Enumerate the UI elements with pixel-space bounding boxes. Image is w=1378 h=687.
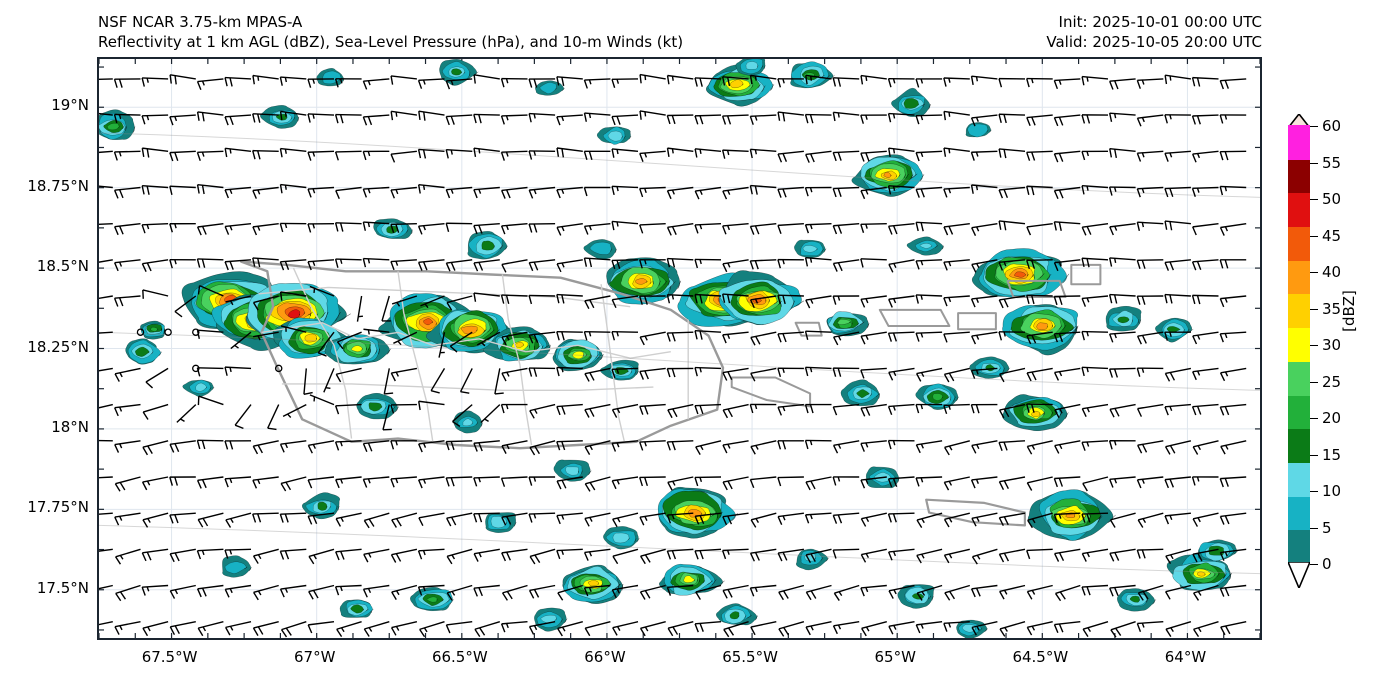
wind-barb-icon	[613, 622, 640, 636]
wind-barb-icon	[99, 332, 113, 342]
reflectivity-cell	[140, 321, 165, 339]
longitude-tick-label: 65.5°W	[722, 648, 778, 666]
wind-barb-icon	[723, 224, 750, 235]
wind-barb-icon	[723, 586, 750, 599]
wind-barb-icon	[1192, 295, 1218, 304]
wind-barb-icon	[115, 405, 142, 417]
wind-barb-icon	[1220, 224, 1247, 236]
colorbar-segment	[1288, 260, 1310, 294]
wind-barb-icon	[999, 79, 1025, 88]
colorbar-segment	[1288, 193, 1310, 227]
wind-barb-icon	[474, 586, 501, 597]
wind-barb-icon	[418, 111, 445, 123]
wind-barb-icon	[861, 405, 888, 417]
wind-barb-icon	[585, 513, 612, 527]
wind-barb-icon	[888, 441, 914, 450]
init-time-label: Init: 2025-10-01 00:00 UTC	[1046, 12, 1262, 32]
wind-barb-icon	[225, 188, 252, 199]
wind-barb-icon	[335, 223, 361, 232]
colorbar-segment	[1288, 227, 1310, 261]
latitude-tick-label: 18.25°N	[27, 338, 89, 356]
wind-barb-icon	[861, 332, 888, 344]
colorbar-segment	[1288, 496, 1310, 530]
wind-barb-icon	[281, 477, 308, 492]
latitude-tick-label: 17.75°N	[27, 498, 89, 516]
wind-barb-icon	[461, 368, 480, 395]
field-title: Reflectivity at 1 km AGL (dBZ), Sea-Leve…	[98, 32, 683, 52]
wind-barb-icon	[916, 151, 942, 161]
wind-barb-icon	[473, 75, 500, 88]
wind-barb-icon	[418, 185, 445, 196]
wind-barb-icon	[198, 586, 225, 598]
wind-barb-icon	[226, 622, 253, 636]
wind-barb-icon	[501, 405, 527, 414]
admin-boundary-path	[282, 384, 654, 390]
wind-barb-icon	[170, 477, 196, 486]
wind-barb-icon	[253, 513, 279, 522]
wind-barb-icon	[640, 477, 666, 486]
wind-barb-icon	[805, 258, 832, 269]
colorbar-segment	[1288, 159, 1310, 193]
reflectivity-cell-weak	[794, 240, 826, 258]
wind-barb-icon	[392, 513, 419, 528]
wind-barb-icon	[1000, 622, 1027, 637]
reflectivity-cell-weak	[183, 380, 214, 397]
wind-barb-icon	[1109, 113, 1136, 123]
wind-barb-icon	[197, 549, 223, 559]
wind-barb-icon	[640, 224, 666, 234]
wind-barb-icon	[99, 513, 113, 523]
colorbar-tick	[1310, 272, 1318, 273]
latitude-tick-label: 19°N	[51, 96, 89, 114]
reflectivity-cell-weak	[1106, 306, 1141, 331]
wind-barb-icon	[944, 260, 971, 271]
wind-barb-icon	[640, 368, 667, 379]
wind-barb-icon	[751, 622, 778, 636]
wind-barb-icon	[723, 441, 750, 454]
wind-barb-icon	[1137, 222, 1163, 232]
wind-barb-icon	[363, 477, 390, 488]
wind-barb-icon	[695, 477, 721, 486]
wind-barb-icon	[364, 586, 391, 598]
wind-barb-icon	[1110, 368, 1136, 377]
colorbar-tick	[1310, 309, 1318, 310]
colorbar[interactable]: 051015202530354045505560	[1288, 126, 1310, 564]
wind-barb-icon	[944, 296, 971, 306]
wind-barb-icon	[1221, 368, 1248, 381]
wind-barb-icon	[833, 260, 860, 272]
wind-barb-icon	[1083, 622, 1110, 638]
wind-barb-icon	[225, 441, 251, 450]
wind-barb-icon	[1054, 115, 1081, 126]
wind-barb-icon	[431, 368, 452, 395]
wind-barb-icon	[279, 185, 306, 196]
wind-barb-icon	[252, 76, 279, 88]
wind-barb-icon	[99, 224, 113, 234]
wind-barb-icon	[640, 151, 667, 162]
wind-barb-icon	[336, 586, 362, 596]
wind-barb-icon	[142, 260, 169, 272]
wind-barb-icon	[253, 477, 280, 489]
wind-barb-icon	[170, 513, 197, 523]
reflectivity-cell	[658, 487, 738, 538]
wind-barb-icon	[363, 259, 389, 269]
colorbar-tick	[1310, 199, 1318, 200]
wind-barb-icon	[750, 224, 777, 235]
wind-barb-icon	[723, 188, 750, 200]
wind-barb-icon	[916, 295, 942, 305]
wind-barb-icon	[861, 441, 888, 452]
wind-barb-icon	[557, 260, 584, 272]
reflectivity-cell	[972, 248, 1069, 298]
wind-barb-icon	[225, 367, 251, 377]
wind-barb-icon	[282, 622, 309, 638]
map-plot-area[interactable]	[97, 57, 1262, 640]
wind-barb-icon	[889, 405, 916, 415]
reflectivity-cell-weak	[126, 339, 162, 365]
figure-canvas: NSF NCAR 3.75-km MPAS-A Reflectivity at …	[0, 0, 1378, 687]
wind-barb-icon	[280, 149, 307, 160]
wind-barb-icon	[971, 185, 998, 196]
wind-barb-icon	[391, 549, 418, 563]
wind-barb-icon	[115, 513, 142, 525]
wind-barb-icon	[944, 549, 971, 563]
wind-barb-icon	[363, 79, 390, 90]
wind-barb-icon	[529, 477, 555, 486]
latitude-tick-label: 18.5°N	[37, 257, 89, 275]
wind-barb-icon	[778, 260, 804, 269]
wind-barb-icon	[1082, 224, 1109, 236]
wind-barb-icon	[474, 260, 501, 272]
wind-barb-icon	[142, 586, 168, 596]
wind-barb-icon	[779, 622, 806, 637]
wind-barb-icon	[999, 441, 1025, 451]
wind-barb-icon	[1054, 151, 1081, 162]
wind-barb-icon	[141, 290, 168, 304]
colorbar-segment	[1288, 395, 1310, 429]
wind-barb-icon	[364, 622, 391, 637]
wind-barb-icon	[419, 477, 446, 488]
wind-barb-icon	[529, 188, 556, 199]
wind-barb-icon	[805, 115, 831, 124]
wind-barb-icon	[143, 441, 170, 456]
wind-barb-icon	[1109, 258, 1136, 268]
wind-barb-icon	[196, 396, 223, 412]
wind-barb-icon	[778, 441, 804, 450]
wind-barb-icon	[142, 78, 168, 87]
wind-barb-icon	[667, 441, 693, 451]
wind-barb-icon	[1137, 622, 1164, 632]
wind-barb-icon	[363, 151, 389, 160]
wind-barb-icon	[1220, 405, 1247, 416]
wind-barb-icon	[833, 151, 859, 161]
wind-barb-icon	[723, 477, 750, 490]
wind-barb-icon	[473, 148, 500, 160]
reflectivity-cell	[827, 311, 869, 336]
wind-barb-icon	[833, 224, 860, 235]
reflectivity-cell-weak	[600, 360, 638, 380]
wind-barb-icon	[1110, 477, 1137, 488]
wind-barb-icon	[447, 586, 474, 602]
wind-barb-icon	[945, 586, 972, 601]
reflectivity-cell	[606, 258, 680, 305]
wind-barb-icon	[1027, 115, 1054, 126]
wind-barb-icon	[99, 440, 113, 449]
wind-barb-icon	[916, 622, 943, 634]
wind-barb-icon	[1192, 477, 1218, 486]
wind-barb-icon	[944, 368, 971, 382]
wind-barb-icon	[861, 586, 888, 597]
wind-barb-icon	[668, 405, 695, 419]
wind-barb-icon	[198, 224, 225, 236]
wind-barb-icon	[1027, 224, 1054, 236]
wind-barb-icon	[308, 477, 335, 488]
latitude-tick-label: 17.5°N	[37, 579, 89, 597]
wind-barb-icon	[336, 549, 363, 560]
wind-barb-icon	[225, 78, 251, 88]
wind-barb-icon	[225, 586, 252, 598]
wind-barb-icon	[696, 441, 723, 455]
wind-barb-icon	[391, 151, 418, 162]
wind-barb-icon	[1220, 332, 1246, 342]
wind-barb-icon	[723, 368, 750, 381]
wind-barb-icon	[750, 186, 777, 196]
colorbar-segment	[1288, 530, 1310, 564]
wind-barb-icon	[1055, 441, 1082, 454]
wind-barb-icon	[253, 224, 280, 236]
colorbar-tick-label: 40	[1322, 263, 1341, 281]
wind-barb-icon	[357, 296, 366, 322]
wind-barb-icon	[778, 188, 805, 198]
wind-barb-icon	[530, 586, 557, 599]
wind-barb-icon	[197, 259, 223, 268]
wind-barb-icon	[1193, 405, 1220, 416]
wind-barb-icon	[806, 296, 833, 309]
reflectivity-cell-weak	[790, 62, 834, 88]
wind-barb-icon	[1164, 221, 1191, 232]
wind-barb-icon	[1110, 405, 1137, 418]
wind-barb-icon	[254, 586, 281, 601]
wind-barb-icon	[364, 549, 391, 562]
colorbar-tick	[1310, 491, 1318, 492]
wind-barb-icon	[695, 224, 721, 234]
wind-barb-icon	[99, 151, 113, 161]
wind-barb-icon	[806, 477, 833, 490]
colorbar-segment	[1288, 462, 1310, 496]
wind-barb-icon	[1027, 368, 1054, 381]
colorbar-segment	[1288, 429, 1310, 463]
wind-barb-icon	[1165, 368, 1192, 381]
wind-barb-icon	[971, 76, 998, 87]
wind-barb-icon	[501, 79, 527, 88]
wind-barb-icon	[99, 79, 113, 88]
wind-barb-icon	[503, 586, 530, 602]
wind-barb-icon	[695, 188, 722, 200]
reflectivity-cell-weak	[796, 549, 829, 570]
wind-barb-icon	[115, 296, 142, 307]
wind-barb-icon	[889, 296, 916, 308]
wind-barb-icon	[308, 114, 334, 124]
wind-barb-icon	[364, 513, 391, 528]
reflectivity-cell-weak	[1117, 588, 1156, 611]
wind-barb-icon	[391, 477, 418, 487]
wind-barb-icon	[530, 405, 557, 419]
wind-barb-icon	[613, 513, 640, 527]
wind-barb-icon	[833, 296, 859, 305]
wind-barb-icon	[972, 296, 999, 307]
wind-barb-icon	[667, 549, 694, 559]
colorbar-segment	[1288, 328, 1310, 362]
wind-barb-icon	[1083, 477, 1110, 492]
wind-barb-icon	[889, 260, 916, 273]
wind-barb-icon	[336, 151, 362, 160]
wind-barb-icon	[889, 224, 916, 235]
wind-barb-icon	[309, 586, 336, 600]
wind-barb-icon	[641, 622, 668, 637]
wind-barb-icon	[916, 115, 942, 124]
wind-barb-icon	[1081, 77, 1108, 88]
wind-barb-icon	[225, 477, 252, 487]
wind-barb-icon	[750, 586, 777, 597]
wind-barb-icon	[751, 368, 778, 381]
wind-barb-icon	[447, 513, 474, 526]
reflectivity-cell-weak	[966, 122, 992, 137]
wind-barb-icon	[253, 441, 280, 455]
colorbar-tick-label: 45	[1322, 227, 1341, 245]
wind-barb-icon	[557, 513, 584, 524]
wind-barb-icon	[281, 586, 308, 598]
wind-barb-icon	[723, 332, 750, 343]
colorbar-tick-label: 20	[1322, 409, 1341, 427]
wind-barb-icon	[557, 549, 583, 559]
wind-barb-icon	[833, 368, 859, 377]
wind-barb-icon	[420, 622, 447, 638]
wind-barb-icon	[99, 622, 115, 636]
colorbar-tick-label: 5	[1322, 519, 1332, 537]
wind-barb-icon	[268, 405, 287, 432]
wind-barb-icon	[1193, 224, 1220, 236]
colorbar-segment	[1288, 125, 1310, 159]
wind-barb-icon	[99, 477, 113, 487]
wind-barb-icon	[198, 477, 225, 489]
wind-barb-icon	[1082, 441, 1108, 451]
wind-barb-icon	[225, 115, 252, 125]
wind-barb-icon	[779, 586, 806, 601]
wind-barb-icon	[198, 622, 225, 637]
coastline-path	[732, 378, 810, 407]
wind-barb-icon	[585, 622, 612, 637]
wind-barb-icon	[667, 115, 693, 124]
wind-barb-icon	[336, 513, 363, 527]
wind-barb-icon	[778, 368, 804, 377]
wind-barb-icon	[502, 115, 528, 124]
wind-barb-icon	[115, 260, 142, 271]
wind-barb-icon	[972, 586, 999, 598]
wind-barb-icon	[1082, 586, 1108, 596]
wind-barb-icon	[529, 224, 555, 233]
longitude-tick-label: 64.5°W	[1012, 648, 1068, 666]
colorbar-tick	[1310, 528, 1318, 529]
wind-barb-icon	[1137, 260, 1163, 269]
wind-barb-icon	[750, 404, 776, 413]
wind-barb-icon	[778, 513, 805, 525]
wind-barb-icon	[1056, 586, 1083, 602]
wind-barb-icon	[998, 221, 1025, 232]
wind-barb-icon	[419, 260, 446, 271]
wind-barb-icon	[1193, 115, 1219, 124]
wind-barb-icon	[280, 549, 307, 559]
colorbar-segment	[1288, 361, 1310, 395]
wind-barb-icon	[502, 549, 529, 561]
wind-barb-icon	[170, 115, 196, 125]
wind-barb-icon	[557, 405, 584, 415]
wind-barb-icon	[834, 622, 861, 634]
wind-barb-icon	[1027, 79, 1053, 88]
colorbar-tick-label: 0	[1322, 555, 1332, 573]
wind-barb-icon	[916, 332, 942, 341]
wind-barb-icon	[972, 441, 999, 454]
wind-barb-icon	[971, 151, 997, 160]
reflectivity-cell-weak	[317, 68, 344, 86]
coastline-path	[958, 313, 996, 329]
wind-barb-icon	[474, 114, 500, 123]
wind-barb-icon	[99, 405, 115, 419]
colorbar-tick	[1310, 236, 1318, 237]
wind-barb-icon	[1000, 586, 1027, 600]
wind-barb-icon	[888, 79, 914, 88]
wind-barb-icon	[1082, 549, 1109, 562]
wind-barb-icon	[170, 622, 197, 635]
map-svg	[99, 59, 1260, 638]
wind-barb-icon	[778, 224, 804, 234]
wind-barb-icon	[778, 477, 804, 486]
wind-barb-icon	[169, 75, 196, 88]
wind-barb-icon	[337, 622, 364, 638]
wind-barb-icon	[99, 185, 113, 196]
longitude-tick-label: 66.5°W	[432, 648, 488, 666]
wind-barb-icon	[198, 79, 225, 90]
wind-barb-icon	[751, 513, 778, 528]
wind-barb-icon	[944, 224, 971, 236]
wind-barb-icon	[723, 115, 749, 124]
reflectivity-cell-weak	[841, 380, 880, 406]
wind-barb-icon	[972, 224, 999, 236]
latitude-tick-label: 18.75°N	[27, 177, 89, 195]
wind-barb-icon	[1220, 260, 1246, 269]
wind-barb-icon	[667, 368, 693, 377]
wind-barb-icon	[363, 441, 390, 452]
figure-title-right: Init: 2025-10-01 00:00 UTC Valid: 2025-1…	[1046, 12, 1262, 52]
wind-barb-icon	[225, 224, 252, 235]
wind-barb-icon	[861, 224, 887, 233]
wind-barb-icon	[612, 477, 639, 489]
wind-barb-icon	[999, 549, 1026, 562]
wind-barb-icon	[860, 76, 887, 88]
wind-barb-icon	[99, 368, 114, 381]
wind-barb-icon	[861, 513, 888, 527]
wind-barb-icon	[944, 477, 971, 491]
wind-barb-icon	[1027, 477, 1054, 491]
wind-barb-icon	[1192, 78, 1218, 88]
reflectivity-cell-weak	[453, 411, 482, 433]
wind-barb-icon	[833, 78, 859, 88]
wind-barb-icon	[722, 150, 748, 160]
wind-barb-icon	[612, 332, 638, 341]
wind-barb-icon	[143, 477, 170, 490]
wind-barb-icon	[834, 441, 861, 454]
wind-barb-icon	[972, 332, 999, 344]
wind-barb-icon	[1137, 477, 1164, 488]
